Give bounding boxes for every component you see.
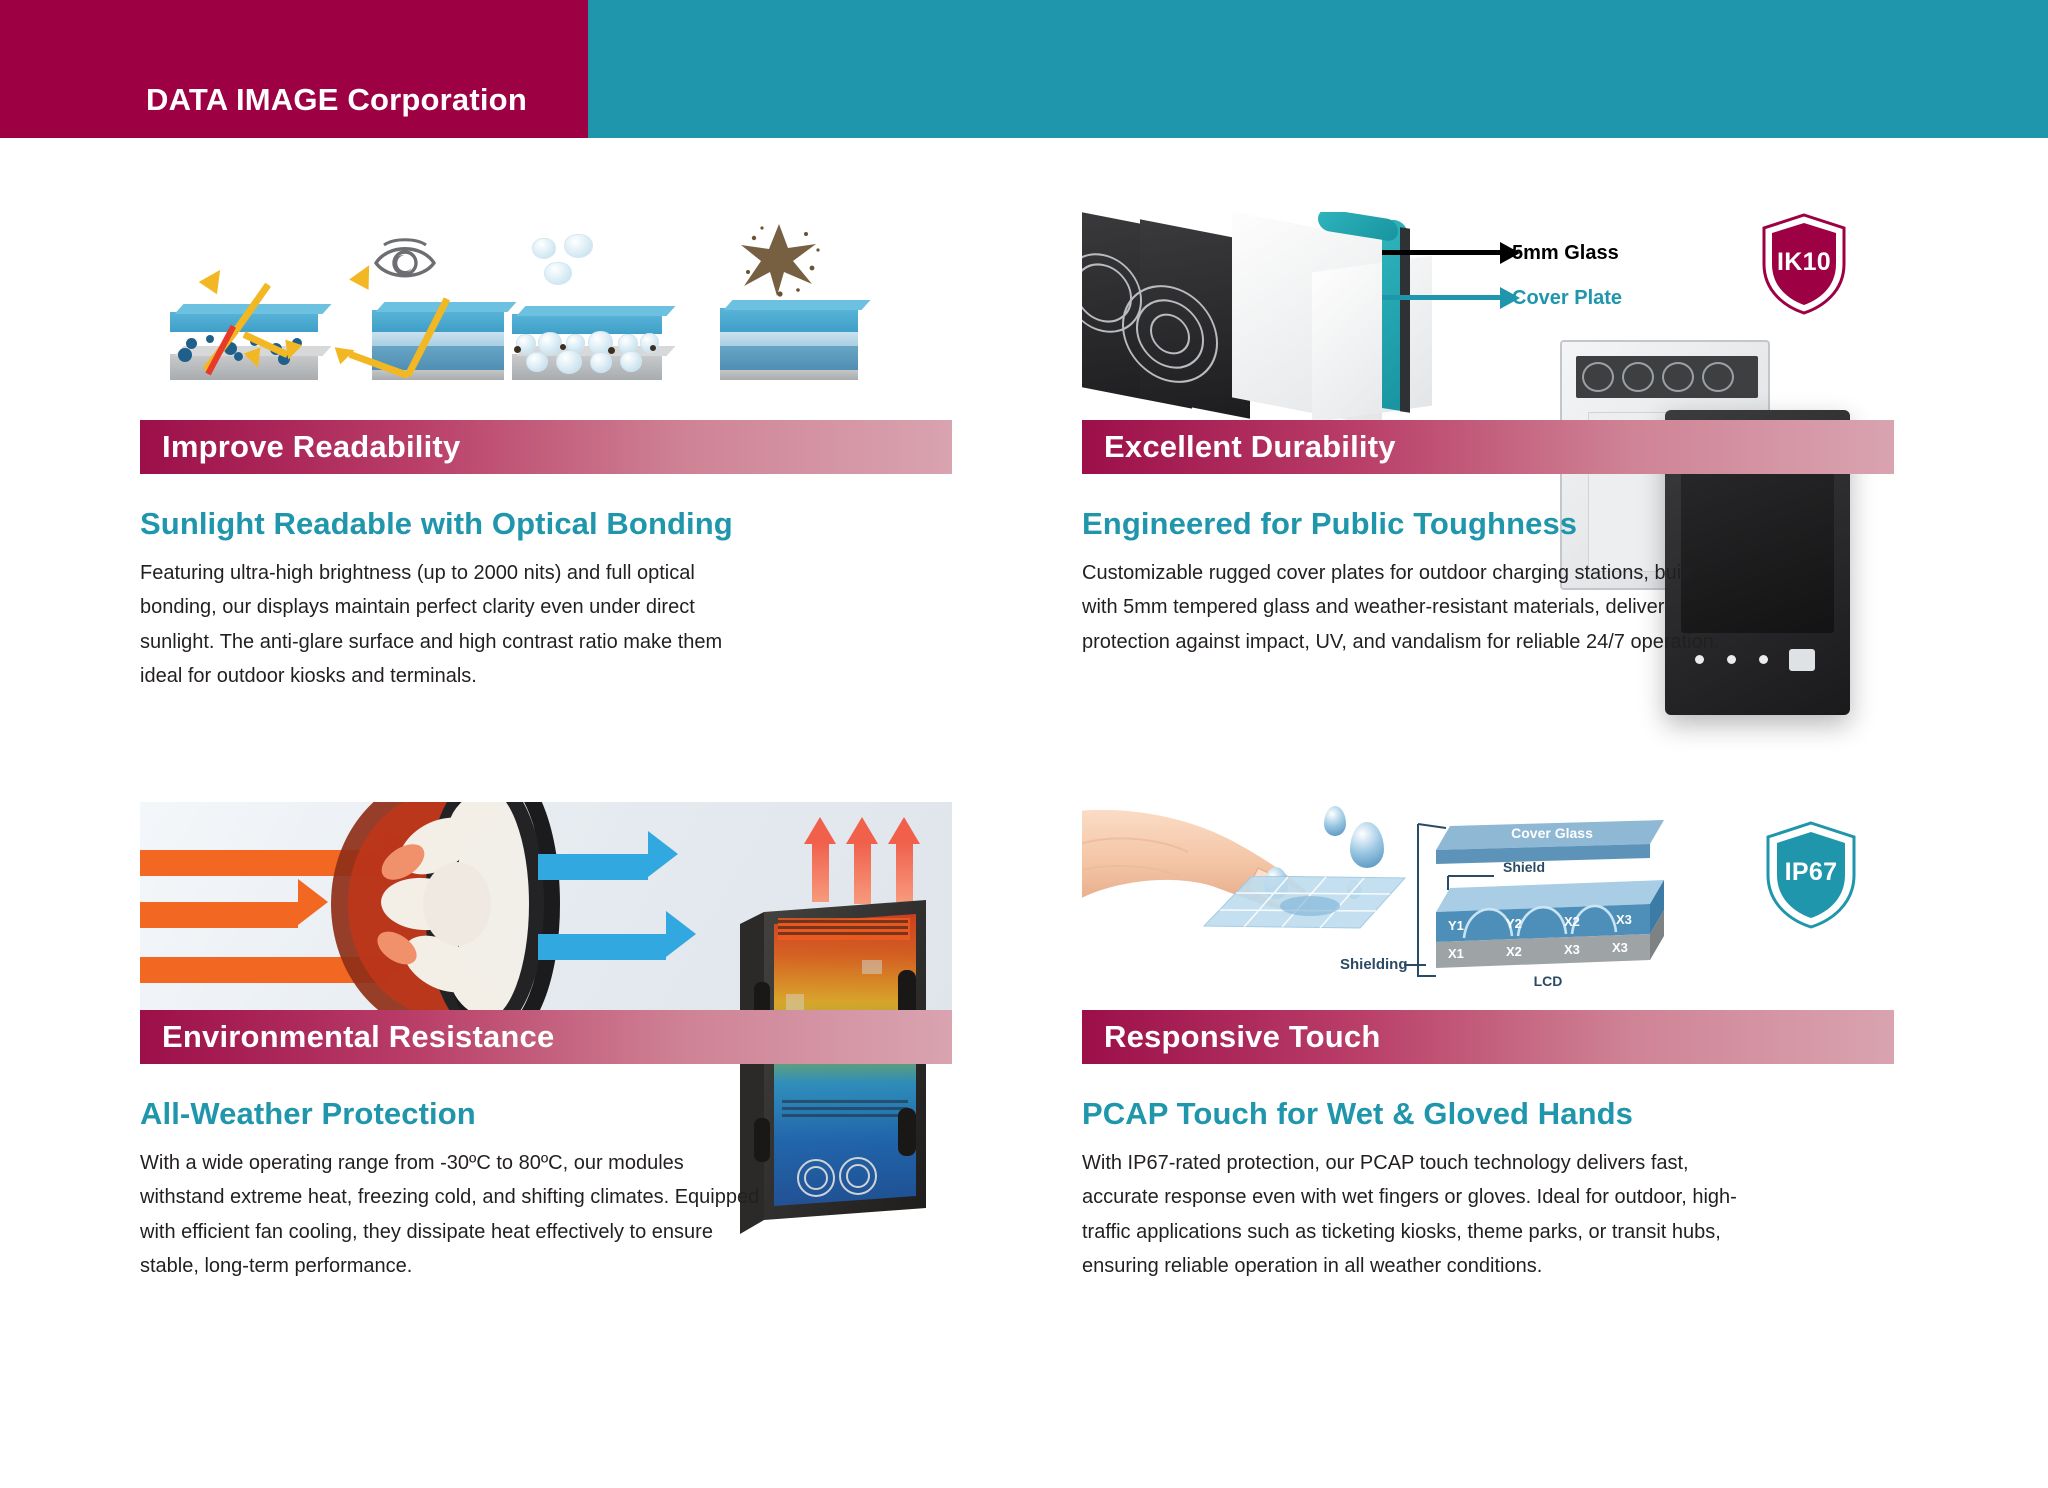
cooling-fan-icon bbox=[325, 802, 590, 1010]
svg-text:X2: X2 bbox=[1506, 944, 1522, 959]
svg-text:X2: X2 bbox=[1564, 914, 1580, 929]
ip67-shield-badge: IP67 bbox=[1762, 820, 1860, 930]
svg-text:Y1: Y1 bbox=[1448, 918, 1464, 933]
water-droplet bbox=[532, 238, 556, 259]
ik10-badge-text: IK10 bbox=[1758, 248, 1850, 277]
pcap-layer-diagram: Cover Glass Y1 Y2 X2 X3 X1 X2 X3 X3 LCD … bbox=[1412, 806, 1712, 996]
section-banner-readability: Improve Readability bbox=[140, 420, 952, 474]
ik10-shield-badge: IK10 bbox=[1758, 212, 1850, 316]
section-banner-durability: Excellent Durability bbox=[1082, 420, 1894, 474]
water-drop bbox=[1324, 806, 1346, 836]
rugged-enclosure-illustration: 5mm Glass Cover Plate IK10 bbox=[1082, 212, 1894, 420]
water-droplet bbox=[544, 262, 572, 285]
section-banner-environmental: Environmental Resistance bbox=[140, 1010, 952, 1064]
banner-label: Improve Readability bbox=[162, 429, 460, 465]
card-headline: PCAP Touch for Wet & Gloved Hands bbox=[1082, 1096, 1912, 1132]
svg-text:LCD: LCD bbox=[1534, 973, 1563, 989]
dirt-splatter-icon bbox=[736, 220, 822, 300]
svg-text:Y2: Y2 bbox=[1506, 916, 1522, 931]
card-headline: Engineered for Public Toughness bbox=[1082, 506, 1912, 542]
svg-text:Shield: Shield bbox=[1503, 859, 1545, 875]
svg-text:X1: X1 bbox=[1448, 946, 1464, 961]
svg-text:X3: X3 bbox=[1564, 942, 1580, 957]
card-body: Customizable rugged cover plates for out… bbox=[1082, 556, 1722, 659]
banner-label: Environmental Resistance bbox=[162, 1019, 554, 1055]
card-body: With IP67-rated protection, our PCAP tou… bbox=[1082, 1146, 1742, 1284]
glass-callout-line bbox=[1382, 250, 1502, 255]
stack-air-gap bbox=[512, 314, 662, 376]
banner-label: Excellent Durability bbox=[1104, 429, 1396, 465]
water-drop bbox=[1350, 822, 1384, 868]
card-body: With a wide operating range from -30ºC t… bbox=[140, 1146, 760, 1284]
svg-text:X3: X3 bbox=[1612, 940, 1628, 955]
page-header: DATA IMAGE Corporation bbox=[0, 0, 2048, 138]
company-name: DATA IMAGE Corporation bbox=[146, 82, 527, 118]
svg-text:X3: X3 bbox=[1616, 912, 1632, 927]
label-shielding: Shielding bbox=[1340, 956, 1408, 973]
card-body: Featuring ultra-high brightness (up to 2… bbox=[140, 556, 760, 694]
water-droplet bbox=[564, 234, 593, 258]
thermal-module-render bbox=[730, 890, 960, 1250]
card-headline: Sunlight Readable with Optical Bonding bbox=[140, 506, 970, 542]
label-5mm-glass: 5mm Glass bbox=[1512, 242, 1619, 265]
pcap-touch-illustration: Cover Glass Y1 Y2 X2 X3 X1 X2 X3 X3 LCD … bbox=[1082, 802, 1894, 1010]
poster-page: DATA IMAGE Corporation bbox=[0, 0, 2048, 1488]
ip67-badge-text: IP67 bbox=[1762, 858, 1860, 887]
card-responsive-touch: Cover Glass Y1 Y2 X2 X3 X1 X2 X3 X3 LCD … bbox=[1082, 802, 1912, 1284]
touch-surface bbox=[1200, 876, 1410, 931]
cover-plate-callout-line bbox=[1382, 295, 1502, 300]
section-banner-responsive-touch: Responsive Touch bbox=[1082, 1010, 1894, 1064]
banner-label: Responsive Touch bbox=[1104, 1019, 1381, 1055]
eye-icon bbox=[372, 236, 438, 287]
optical-bonding-illustration bbox=[140, 212, 952, 420]
card-headline: All-Weather Protection bbox=[140, 1096, 970, 1132]
card-improve-readability: Improve Readability Sunlight Readable wi… bbox=[140, 212, 970, 694]
svg-text:Cover Glass: Cover Glass bbox=[1511, 825, 1593, 841]
stack-sealed bbox=[720, 308, 858, 380]
label-cover-plate: Cover Plate bbox=[1512, 287, 1622, 310]
